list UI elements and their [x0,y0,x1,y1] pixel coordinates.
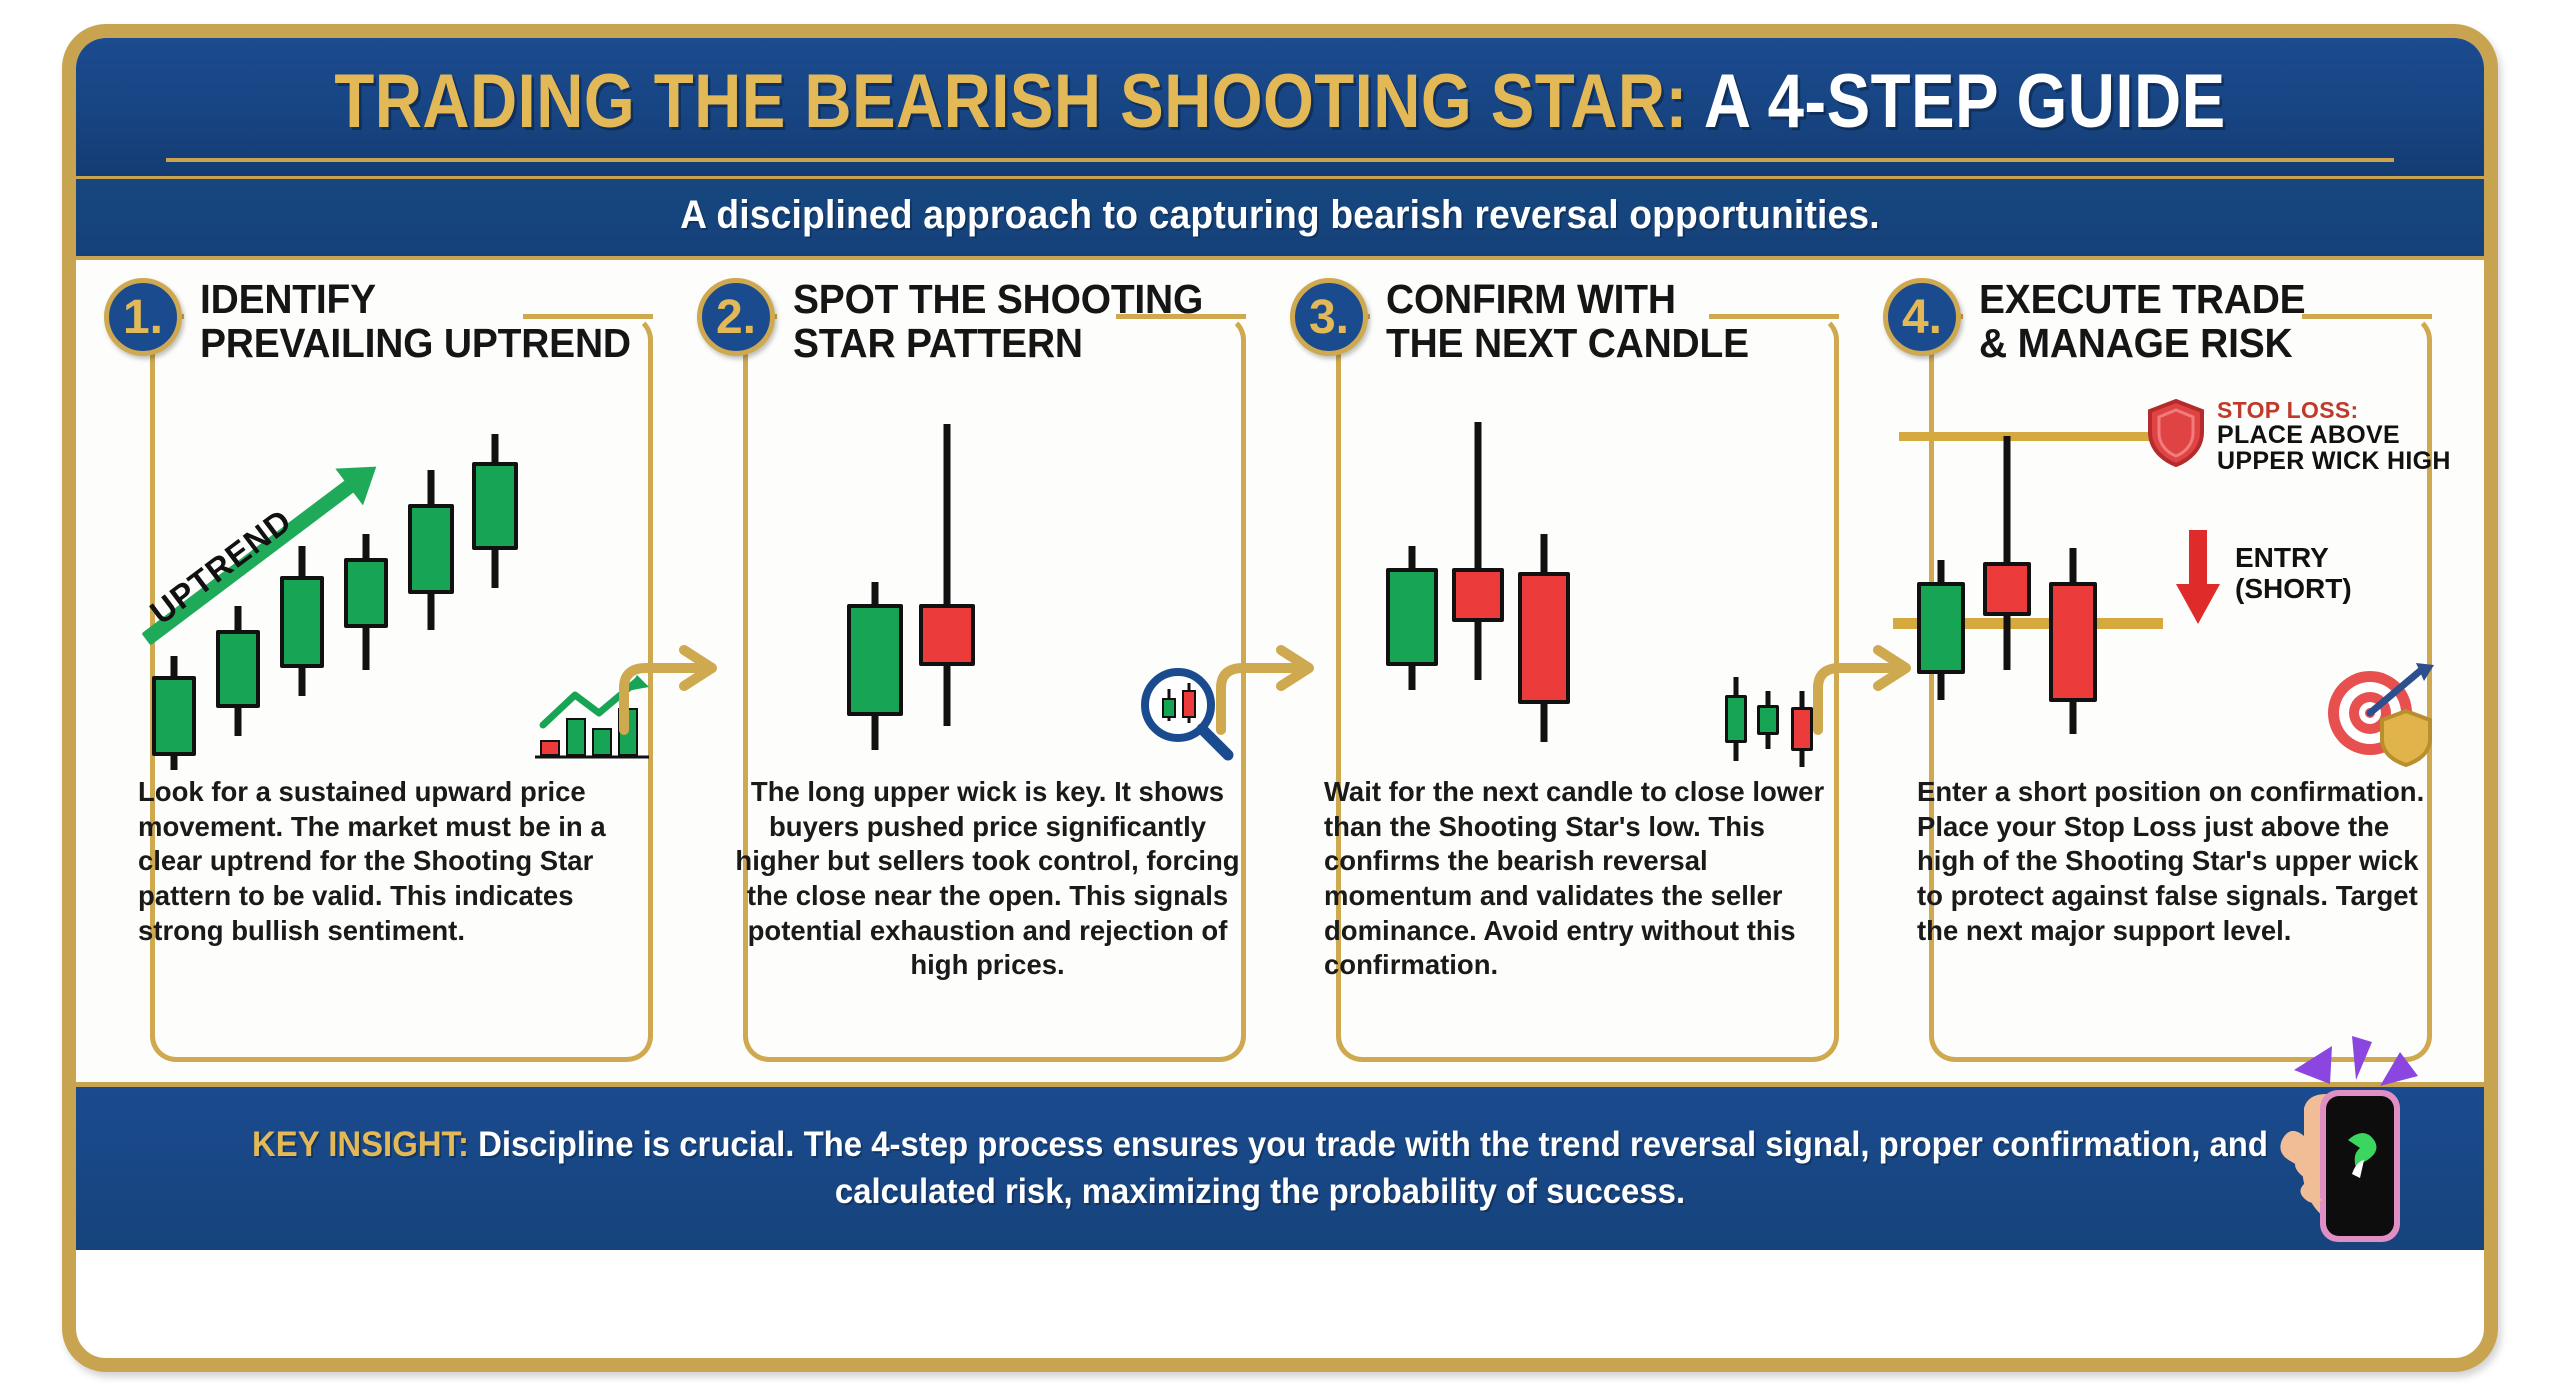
page-title-gold: TRADING THE BEARISH SHOOTING STAR: [334,59,1687,144]
step-connector-3-4 [1810,644,1918,736]
candle-body [1757,705,1779,735]
candle-shooting-star [1983,436,2031,670]
step-description-3: Wait for the next candle to close lower … [1290,775,1863,983]
step-connector-2-3 [1213,644,1321,736]
candle-1 [1386,542,1438,694]
page-title-white: A 4-STEP GUIDE [1704,59,2226,144]
step-art-4: STOP LOSS: PLACE ABOVE UPPER WICK HIGH E… [1883,380,2456,775]
candle-body [280,576,324,668]
stop-loss-annotation: STOP LOSS: PLACE ABOVE UPPER WICK HIGH [2217,398,2451,475]
candle-shooting-star [1452,422,1504,680]
step-header-4: 4. EXECUTE TRADE & MANAGE RISK [1883,276,2456,380]
candle-body [1983,562,2031,616]
step-description-1: Look for a sustained upward price moveme… [104,775,677,948]
target-shield-icon [2320,659,2438,769]
candle-body [1518,572,1570,704]
step-art-3 [1290,380,1863,775]
candle-body [472,462,518,550]
candle-body [1725,695,1747,743]
candle-4 [344,530,388,674]
candle-5 [408,466,454,634]
candle-1 [152,648,196,776]
burst-rays-icon [2294,1036,2418,1086]
step-description-2: The long upper wick is key. It shows buy… [697,775,1270,983]
footer-banner: KEY INSIGHT: Discipline is crucial. The … [76,1082,2484,1250]
infographic-poster: TRADING THE BEARISH SHOOTING STAR: A 4-S… [62,24,2498,1372]
key-insight-label: KEY INSIGHT: [252,1125,469,1164]
candle-wick [944,424,951,726]
candle-1 [1917,558,1965,702]
step-title-3: CONFIRM WITH THE NEXT CANDLE [1386,276,1749,366]
candle-1 [847,578,903,754]
step-art-1: UPTREND [104,380,677,775]
step-card-4: 4. EXECUTE TRADE & MANAGE RISK STOP LOSS… [1873,276,2466,1076]
candle-6 [472,432,518,590]
mini-candle-2 [1757,691,1779,749]
step-connector-1-2 [616,644,724,736]
candle-body [408,504,454,594]
step-number-badge-3: 3. [1290,278,1368,356]
candle-body [216,630,260,708]
candle-body [1917,582,1965,674]
step-number-badge-1: 1. [104,278,182,356]
step-card-1: 1. IDENTIFY PREVAILING UPTREND UPTREND [94,276,687,1076]
mini-candle-1 [1725,677,1747,761]
page-title: TRADING THE BEARISH SHOOTING STAR: A 4-S… [279,64,2281,140]
step-title-4: EXECUTE TRADE & MANAGE RISK [1979,276,2305,366]
step-card-2: 2. SPOT THE SHOOTING STAR PATTERN [687,276,1280,1076]
candle-body [2049,582,2097,702]
candle-wick [2004,436,2011,670]
key-insight-body: Discipline is crucial. The 4-step proces… [469,1125,2268,1211]
subtitle-band: A disciplined approach to capturing bear… [76,176,2484,260]
candle-2 [216,600,260,740]
step-number-badge-4: 4. [1883,278,1961,356]
shield-icon [2145,398,2207,468]
candle-body [152,676,196,756]
entry-down-arrow-icon [2173,530,2223,628]
step-header-2: 2. SPOT THE SHOOTING STAR PATTERN [697,276,1270,380]
candle-wick [1475,422,1482,680]
candle-body [1452,568,1504,622]
page-subtitle: A disciplined approach to capturing bear… [160,193,2399,238]
candle-confirmation [2049,546,2097,736]
candle-body [919,604,975,666]
hand-holding-phone-illustration [2260,1036,2450,1256]
step-card-3: 3. CONFIRM WITH THE NEXT CANDLE [1280,276,1873,1076]
steps-row: 1. IDENTIFY PREVAILING UPTREND UPTREND [76,260,2484,1082]
step-number-badge-2: 2. [697,278,775,356]
step-title-2: SPOT THE SHOOTING STAR PATTERN [793,276,1203,366]
title-divider [166,158,2394,162]
entry-annotation: ENTRY (SHORT) [2235,542,2352,605]
candle-body [847,604,903,716]
candle-3 [280,542,324,700]
step-header-3: 3. CONFIRM WITH THE NEXT CANDLE [1290,276,1863,380]
step-title-1: IDENTIFY PREVAILING UPTREND [200,276,631,366]
step-description-4: Enter a short position on confirmation. … [1883,775,2456,948]
candle-body [344,558,388,628]
stop-loss-label: STOP LOSS: [2217,398,2451,422]
candle-confirmation [1518,532,1570,744]
stop-loss-detail: PLACE ABOVE UPPER WICK HIGH [2217,422,2451,475]
key-insight-text: KEY INSIGHT: Discipline is crucial. The … [222,1122,2298,1216]
step-art-2 [697,380,1270,775]
candle-body [1386,568,1438,666]
header: TRADING THE BEARISH SHOOTING STAR: A 4-S… [76,38,2484,176]
candle-shooting-star [919,424,975,726]
step-header-1: 1. IDENTIFY PREVAILING UPTREND [104,276,677,380]
